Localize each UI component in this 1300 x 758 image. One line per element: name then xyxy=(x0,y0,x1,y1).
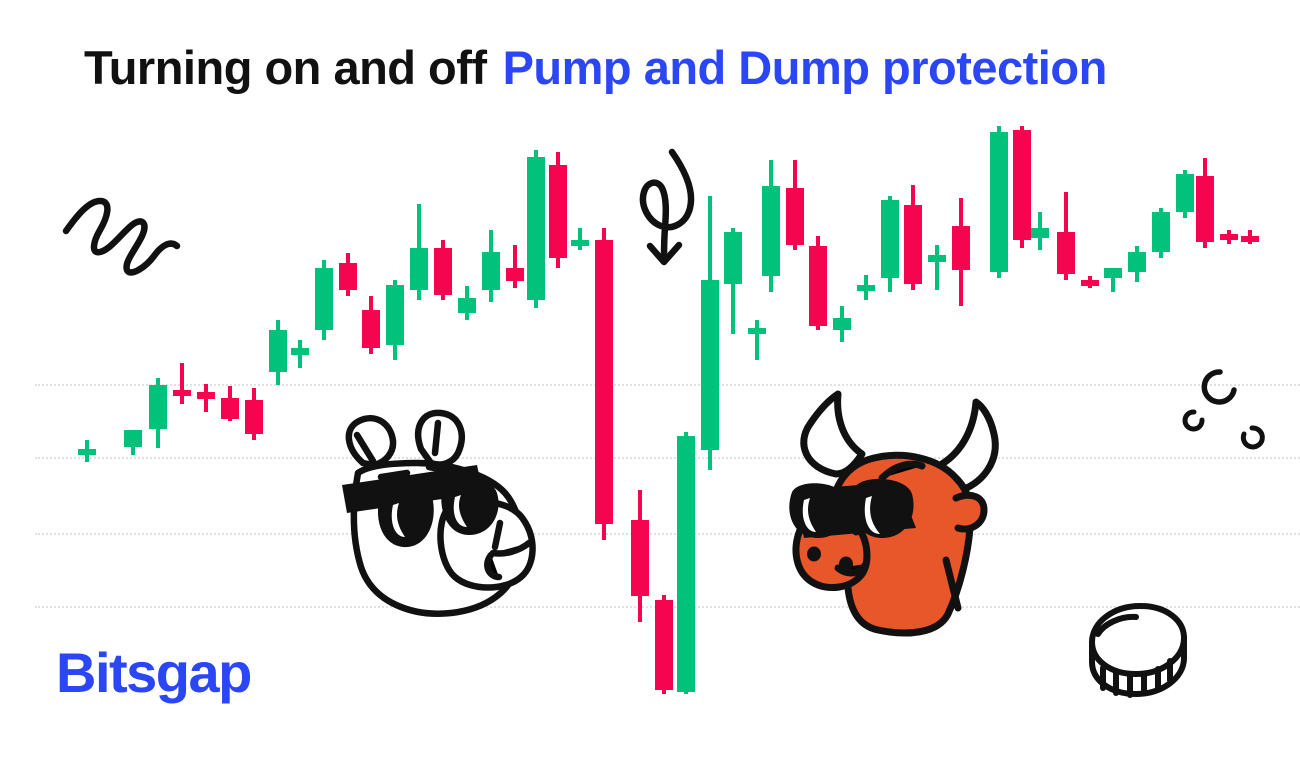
candle xyxy=(786,160,804,250)
candle xyxy=(362,296,380,354)
candle xyxy=(506,245,524,288)
candle xyxy=(1081,276,1099,288)
candle xyxy=(1241,230,1259,244)
candle xyxy=(1128,246,1146,282)
brand-logo-text: Bitsgap xyxy=(56,645,251,701)
candle xyxy=(1176,170,1194,218)
title-accent: Pump and Dump protection xyxy=(503,41,1107,94)
candle xyxy=(434,240,452,300)
candle xyxy=(149,378,167,448)
candle xyxy=(245,388,263,440)
candle xyxy=(881,196,899,292)
candle xyxy=(990,126,1008,278)
candle xyxy=(595,228,613,540)
page-title: Turning on and offPump and Dump protecti… xyxy=(84,44,1107,91)
candle xyxy=(809,236,827,330)
candle xyxy=(724,228,742,334)
candle xyxy=(857,275,875,300)
candle xyxy=(339,253,357,296)
candle xyxy=(762,160,780,292)
candle xyxy=(748,320,766,360)
candle xyxy=(1031,212,1049,250)
candle xyxy=(482,230,500,302)
candle xyxy=(1220,230,1238,244)
candle xyxy=(221,386,239,421)
brand-logo[interactable]: Bitsgap xyxy=(56,645,251,701)
poster-canvas: Turning on and offPump and Dump protecti… xyxy=(0,0,1300,758)
candle xyxy=(197,384,215,412)
candle xyxy=(677,432,695,694)
candle xyxy=(1057,192,1075,280)
candle xyxy=(952,198,970,306)
candle xyxy=(701,196,719,470)
candle xyxy=(549,152,567,268)
candle xyxy=(1196,158,1214,248)
candle xyxy=(833,306,851,342)
candle xyxy=(269,320,287,385)
candle xyxy=(655,595,673,694)
candle xyxy=(928,245,946,290)
candle xyxy=(124,430,142,455)
candle xyxy=(315,260,333,340)
candle xyxy=(410,204,428,300)
candle xyxy=(571,228,589,250)
candle xyxy=(458,286,476,320)
title-primary: Turning on and off xyxy=(84,41,487,94)
candle xyxy=(173,363,191,404)
candle xyxy=(904,185,922,290)
candle xyxy=(631,490,649,622)
candle xyxy=(386,280,404,360)
candle xyxy=(1152,208,1170,258)
candle xyxy=(1104,268,1122,292)
candle xyxy=(78,440,96,462)
candle xyxy=(1013,126,1031,248)
candle xyxy=(527,150,545,308)
candle xyxy=(291,340,309,368)
